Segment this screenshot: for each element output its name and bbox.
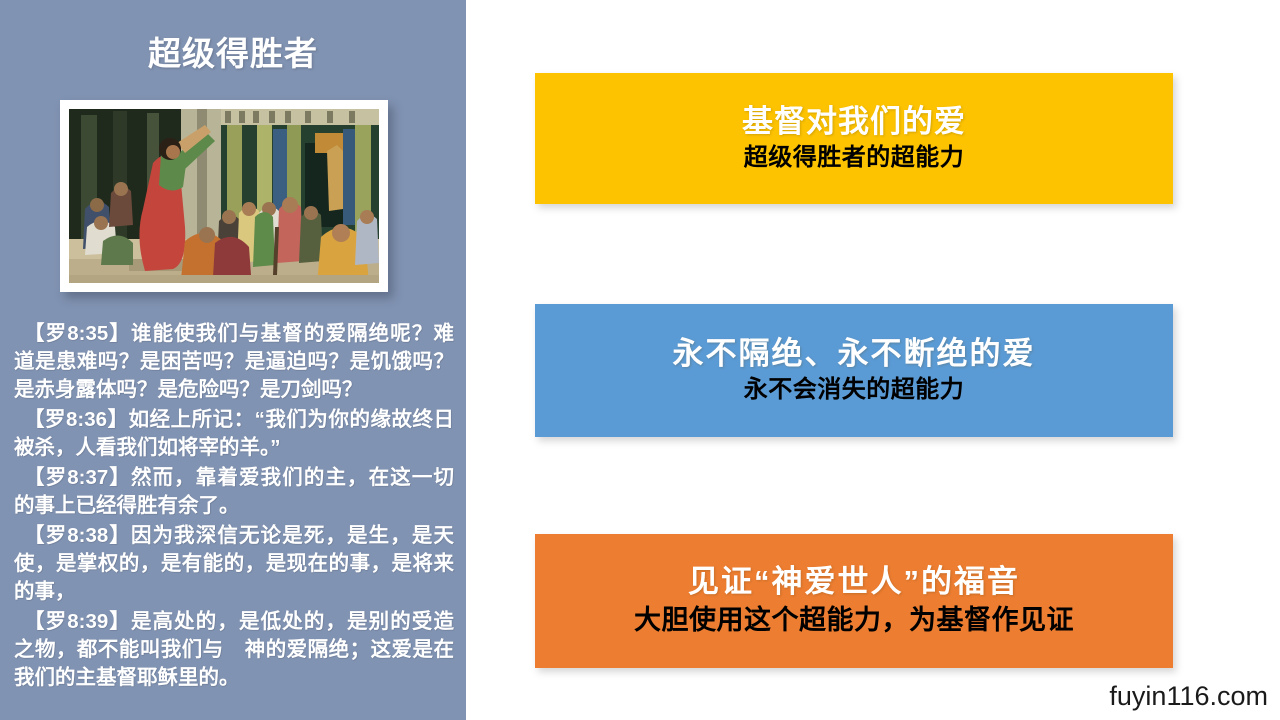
st-paul-preaching-in-athens-painting	[69, 109, 379, 283]
content-box-love-of-christ: 基督对我们的爱 超级得胜者的超能力	[535, 73, 1173, 204]
artwork-frame	[60, 100, 388, 292]
site-watermark: fuyin116.com	[1109, 681, 1268, 712]
content-box-primary-title: 基督对我们的爱	[742, 104, 966, 141]
scripture-text-block: 【罗8:35】谁能使我们与基督的爱隔绝呢？难道是患难吗？是困苦吗？是逼迫吗？是饥…	[14, 320, 454, 694]
content-box-unbreakable-love: 永不隔绝、永不断绝的爱 永不会消失的超能力	[535, 304, 1173, 437]
content-box-primary-title: 永不隔绝、永不断绝的爱	[673, 336, 1036, 373]
scripture-verse: 【罗8:38】因为我深信无论是死，是生，是天使，是掌权的，是有能的，是现在的事，…	[14, 522, 454, 606]
scripture-verse: 【罗8:35】谁能使我们与基督的爱隔绝呢？难道是患难吗？是困苦吗？是逼迫吗？是饥…	[14, 320, 454, 404]
content-box-secondary-title: 永不会消失的超能力	[744, 375, 965, 405]
page-title: 超级得胜者	[0, 36, 466, 72]
content-box-primary-title: 见证“神爱世人”的福音	[688, 564, 1020, 601]
content-box-secondary-title: 超级得胜者的超能力	[744, 143, 965, 173]
scripture-verse: 【罗8:37】然而，靠着爱我们的主，在这一切的事上已经得胜有余了。	[14, 464, 454, 520]
scripture-verse: 【罗8:36】如经上所记：“我们为你的缘故终日被杀，人看我们如将宰的羊。”	[14, 406, 454, 462]
content-box-witness-gospel: 见证“神爱世人”的福音 大胆使用这个超能力，为基督作见证	[535, 534, 1173, 668]
content-box-secondary-title: 大胆使用这个超能力，为基督作见证	[634, 604, 1074, 638]
scripture-verse: 【罗8:39】是高处的，是低处的，是别的受造之物，都不能叫我们与 神的爱隔绝；这…	[14, 608, 454, 692]
sidebar-panel: 超级得胜者	[0, 0, 466, 720]
